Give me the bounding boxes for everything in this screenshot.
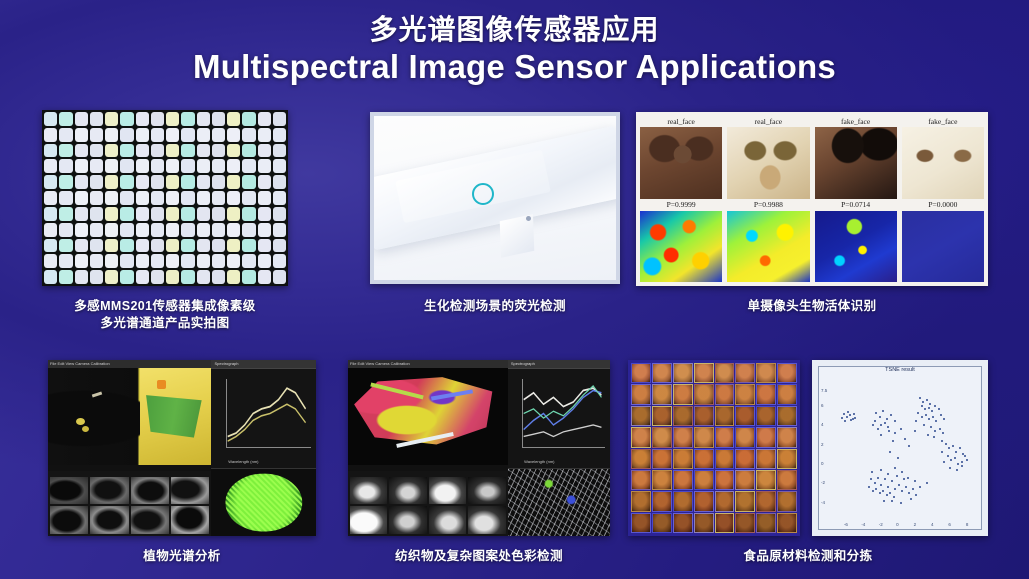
channel-thumbnail (90, 506, 128, 534)
filter-cell (181, 270, 194, 284)
channel-cell (756, 363, 776, 383)
scatter-point (934, 405, 936, 407)
face-result-column: real_face P=0.9999 (640, 116, 722, 282)
scatter-point (844, 420, 846, 422)
filter-cell (273, 159, 286, 173)
filter-cell (258, 112, 271, 126)
face-thumbnail (640, 127, 722, 199)
scatter-point (894, 488, 896, 490)
caption-line-1: 食品原材料检测和分拣 (628, 548, 988, 565)
face-heatmap (815, 211, 897, 283)
channel-cell (735, 384, 755, 404)
scatter-point (886, 494, 888, 496)
channel-thumbnail-grid (348, 471, 508, 536)
filter-cell (136, 239, 149, 253)
channel-cell (631, 449, 651, 469)
filter-cell (227, 239, 240, 253)
x-tick-label: 0 (896, 522, 899, 527)
caption-line-2: 多光谱通道产品实拍图 (42, 315, 288, 332)
filter-cell (75, 175, 88, 189)
scatter-point (898, 484, 900, 486)
channel-cell (756, 384, 776, 404)
scatter-point (871, 471, 873, 473)
panel-sensor-mosaic-image (42, 110, 288, 286)
filter-cell (242, 207, 255, 221)
channel-cell (673, 384, 693, 404)
filter-cell (59, 207, 72, 221)
face-probability: P=0.9988 (727, 199, 809, 211)
filter-cell (181, 254, 194, 268)
scatter-point (921, 416, 923, 418)
face-probability: P=0.0000 (902, 199, 984, 211)
filter-cell (151, 175, 164, 189)
filter-cell (166, 239, 179, 253)
scatter-point (887, 426, 889, 428)
scatter-point (925, 414, 927, 416)
x-tick-label: -4 (861, 522, 865, 527)
filter-cell (166, 128, 179, 142)
classification-result-view (211, 469, 316, 536)
channel-cell (631, 491, 651, 511)
channel-cell (735, 491, 755, 511)
channel-thumbnail (350, 506, 387, 534)
y-tick-label: -2 (821, 480, 825, 485)
channel-cell (673, 513, 693, 533)
filter-cell (212, 159, 225, 173)
scatter-point (894, 467, 896, 469)
filter-cell (44, 112, 57, 126)
filter-cell (258, 270, 271, 284)
scatter-point (900, 502, 902, 504)
filter-cell (151, 254, 164, 268)
face-probability: P=0.0714 (815, 199, 897, 211)
scatter-point (888, 430, 890, 432)
filter-cell (120, 270, 133, 284)
channel-cell (715, 470, 735, 490)
filter-cell (44, 207, 57, 221)
scatter-point (950, 459, 952, 461)
scatter-point (952, 445, 954, 447)
filter-cell (59, 175, 72, 189)
face-label: real_face (640, 116, 722, 127)
channel-cell (694, 363, 714, 383)
scatter-point (875, 412, 877, 414)
filter-cell (242, 175, 255, 189)
scatter-point (933, 436, 935, 438)
caption-line-1: 多感MMS201传感器集成像素级 (42, 298, 288, 315)
filter-cell (273, 223, 286, 237)
face-label: fake_face (815, 116, 897, 127)
y-tick-label: 7.5 (821, 388, 827, 393)
channel-cell (756, 427, 776, 447)
channel-cell (777, 491, 797, 511)
filter-cell (227, 207, 240, 221)
filter-cell (44, 239, 57, 253)
panel-plant-spectral-image: File Edit View Camera Calibration (48, 360, 316, 536)
channel-thumbnail (389, 477, 426, 505)
filter-cell (44, 144, 57, 158)
graph-panel-header: Spectrograph (211, 360, 316, 369)
scatter-point (901, 471, 903, 473)
filter-cell (75, 207, 88, 221)
x-tick-label: 8 (966, 522, 969, 527)
scatter-point (914, 480, 916, 482)
filter-cell (197, 144, 210, 158)
face-thumbnail (902, 127, 984, 199)
scatter-point (854, 417, 856, 419)
channel-cell (673, 449, 693, 469)
scatter-point (847, 411, 849, 413)
filter-cell (227, 223, 240, 237)
face-probability: P=0.9999 (640, 199, 722, 211)
channel-cell (652, 384, 672, 404)
filter-cell (105, 128, 118, 142)
software-left-pane: File Edit View Camera Calibration (48, 360, 211, 536)
caption-line-1: 纺织物及复杂图案处色彩检测 (348, 548, 610, 565)
filter-cell (44, 191, 57, 205)
filter-cell (258, 159, 271, 173)
channel-cell (777, 470, 797, 490)
filter-cell (273, 254, 286, 268)
filter-cell (120, 223, 133, 237)
scatter-point (961, 461, 963, 463)
filter-cell (166, 207, 179, 221)
channel-cell (715, 491, 735, 511)
scatter-point (897, 457, 899, 459)
filter-cell (120, 159, 133, 173)
channel-cell (652, 363, 672, 383)
filter-cell (166, 159, 179, 173)
channel-cell (777, 449, 797, 469)
scatter-point (889, 492, 891, 494)
filter-cell (197, 254, 210, 268)
filter-cell (242, 254, 255, 268)
filter-cell (105, 270, 118, 284)
channel-thumbnail (429, 506, 466, 534)
scatter-point (928, 418, 930, 420)
filter-cell (120, 207, 133, 221)
filter-cell (197, 159, 210, 173)
scatter-point (889, 451, 891, 453)
channel-cell (673, 363, 693, 383)
scatter-point (908, 492, 910, 494)
channel-cell (756, 491, 776, 511)
graph-panel-title: Spectrograph (511, 360, 535, 368)
filter-cell (242, 191, 255, 205)
scatter-point (926, 399, 928, 401)
filter-cell (75, 112, 88, 126)
filter-cell (258, 191, 271, 205)
filter-cell (151, 112, 164, 126)
scatter-point (939, 428, 941, 430)
scatter-point (919, 486, 921, 488)
filter-cell (59, 144, 72, 158)
panel-food-channels-image (628, 360, 800, 536)
scatter-point (877, 477, 879, 479)
filter-cell (258, 207, 271, 221)
y-tick-label: 0 (821, 461, 824, 466)
filter-cell (90, 191, 103, 205)
filter-cell (75, 128, 88, 142)
panel-fluorescence-image (370, 112, 620, 284)
channel-thumbnail (468, 477, 505, 505)
scatter-point (879, 416, 881, 418)
filter-mosaic-grid (42, 110, 288, 286)
channel-cell (715, 427, 735, 447)
classified-sample-blob (225, 473, 302, 532)
page-title-chinese: 多光谱图像传感器应用 (0, 14, 1029, 46)
y-tick-label: 6 (821, 403, 824, 408)
scatter-point (961, 465, 963, 467)
filter-cell (227, 191, 240, 205)
scatter-point (846, 416, 848, 418)
filter-cell (75, 223, 88, 237)
food-channel-grid (631, 363, 797, 533)
bag-orange-mark (157, 380, 166, 389)
scatter-point (853, 413, 855, 415)
scatter-point (942, 432, 944, 434)
filter-cell (90, 175, 103, 189)
scatter-point (886, 418, 888, 420)
channel-cell (756, 406, 776, 426)
caption-fluorescence: 生化检测场景的荧光检测 (370, 298, 620, 315)
face-result-grid: real_face P=0.9999 real_face P=0.9988 fa… (640, 116, 984, 282)
scatter-point (929, 403, 931, 405)
filter-cell (166, 223, 179, 237)
filter-cell (105, 254, 118, 268)
channel-cell (673, 406, 693, 426)
filter-cell (75, 159, 88, 173)
classification-result-view (508, 469, 610, 536)
channel-cell (673, 491, 693, 511)
caption-line-1: 单摄像头生物活体识别 (636, 298, 988, 315)
scatter-point (923, 424, 925, 426)
filter-cell (181, 175, 194, 189)
filter-cell (258, 239, 271, 253)
slide-canvas: 多光谱图像传感器应用 Multispectral Image Sensor Ap… (0, 0, 1029, 579)
filter-cell (181, 207, 194, 221)
scatter-point (850, 419, 852, 421)
scatter-point (903, 478, 905, 480)
filter-cell (273, 175, 286, 189)
graph-xlabel: Wavelength (nm) (228, 459, 258, 464)
filter-cell (273, 144, 286, 158)
filter-cell (90, 207, 103, 221)
filter-cell (136, 254, 149, 268)
filter-cell (166, 191, 179, 205)
caption-sensor-mosaic: 多感MMS201传感器集成像素级 多光谱通道产品实拍图 (42, 298, 288, 332)
channel-cell (735, 427, 755, 447)
scatter-point (874, 420, 876, 422)
bag-logo (146, 395, 202, 438)
x-tick-label: 6 (948, 522, 951, 527)
filter-cell (105, 144, 118, 158)
filter-cell (227, 112, 240, 126)
panel-textile-color-image: File Edit View Camera Calibration (348, 360, 610, 536)
filter-cell (59, 270, 72, 284)
filter-cell (75, 270, 88, 284)
scatter-point (875, 488, 877, 490)
page-title-english: Multispectral Image Sensor Applications (0, 48, 1029, 86)
channel-cell (715, 406, 735, 426)
filter-cell (242, 144, 255, 158)
filter-cell (242, 223, 255, 237)
scatter-point (894, 420, 896, 422)
filter-cell (105, 223, 118, 237)
filter-cell (44, 254, 57, 268)
caption-face-liveness: 单摄像头生物活体识别 (636, 298, 988, 315)
filter-cell (75, 144, 88, 158)
channel-thumbnail (171, 477, 209, 505)
scatter-point (921, 405, 923, 407)
filter-cell (75, 191, 88, 205)
plant-seed (76, 418, 85, 425)
x-tick-label: 2 (914, 522, 917, 527)
filter-cell (44, 270, 57, 284)
filter-cell (212, 191, 225, 205)
channel-cell (715, 513, 735, 533)
filter-cell (181, 112, 194, 126)
channel-thumbnail (389, 506, 426, 534)
filter-cell (59, 159, 72, 173)
scatter-point (941, 451, 943, 453)
scatter-point (941, 440, 943, 442)
scatter-point (870, 478, 872, 480)
filter-cell (197, 223, 210, 237)
filter-cell (242, 239, 255, 253)
face-heatmap (902, 211, 984, 283)
caption-food-sorting: 食品原材料检测和分拣 (628, 548, 988, 565)
channel-thumbnail (50, 477, 88, 505)
channel-cell (777, 363, 797, 383)
filter-cell (212, 207, 225, 221)
filter-cell (197, 239, 210, 253)
filter-cell (136, 191, 149, 205)
channel-cell (777, 513, 797, 533)
filter-cell (90, 254, 103, 268)
channel-thumbnail (171, 506, 209, 534)
toolbar-label: File Edit View Camera Calibration (50, 360, 110, 368)
filter-cell (136, 144, 149, 158)
scatter-point (904, 438, 906, 440)
face-thumbnail (815, 127, 897, 199)
scatter-point (934, 430, 936, 432)
filter-cell (197, 191, 210, 205)
filter-cell (75, 254, 88, 268)
filter-cell (105, 159, 118, 173)
face-result-column: fake_face P=0.0714 (815, 116, 897, 282)
filter-cell (90, 239, 103, 253)
scatter-point (841, 417, 843, 419)
live-camera-view (348, 368, 508, 465)
scatter-point (915, 420, 917, 422)
spectral-software-window: File Edit View Camera Calibration (48, 360, 316, 536)
channel-cell (631, 406, 651, 426)
filter-cell (181, 239, 194, 253)
filter-cell (59, 128, 72, 142)
channel-cell (735, 363, 755, 383)
filter-cell (90, 144, 103, 158)
filter-cell (227, 159, 240, 173)
face-thumbnail (727, 127, 809, 199)
filter-cell (258, 175, 271, 189)
scatter-point (912, 488, 914, 490)
scatter-point (907, 477, 909, 479)
filter-cell (90, 223, 103, 237)
chart-title: TSNE result (819, 366, 981, 375)
filter-cell (197, 112, 210, 126)
scatter-point (880, 484, 882, 486)
filter-cell (242, 159, 255, 173)
software-right-pane: Spectrograph Wavelength (nm) Classificat… (508, 360, 610, 536)
filter-cell (197, 270, 210, 284)
filter-cell (120, 175, 133, 189)
filter-cell (273, 270, 286, 284)
channel-cell (652, 513, 672, 533)
filter-cell (136, 175, 149, 189)
scatter-point (905, 486, 907, 488)
channel-cell (715, 449, 735, 469)
filter-cell (151, 223, 164, 237)
scatter-point (884, 422, 886, 424)
panel-tsne-scatter-image: TSNE result -6-4-202468-4-202467.5 (812, 360, 988, 536)
channel-cell (694, 384, 714, 404)
filter-cell (105, 239, 118, 253)
filter-cell (227, 270, 240, 284)
face-label: real_face (727, 116, 809, 127)
channel-thumbnail (350, 477, 387, 505)
scatter-point (872, 424, 874, 426)
channel-cell (694, 449, 714, 469)
scatter-point (949, 467, 951, 469)
filter-cell (90, 270, 103, 284)
scatter-point (908, 445, 910, 447)
filter-cell (273, 128, 286, 142)
filter-cell (120, 254, 133, 268)
filter-cell (120, 239, 133, 253)
y-tick-label: 4 (821, 422, 824, 427)
tsne-plot: TSNE result -6-4-202468-4-202467.5 (818, 366, 982, 530)
scatter-point (884, 478, 886, 480)
filter-cell (151, 191, 164, 205)
face-label: fake_face (902, 116, 984, 127)
filter-cell (227, 175, 240, 189)
channel-cell (673, 427, 693, 447)
channel-cell (694, 406, 714, 426)
channel-thumbnail (429, 477, 466, 505)
scatter-point (896, 475, 898, 477)
filter-cell (90, 159, 103, 173)
live-camera-view (48, 368, 211, 465)
scatter-point (874, 482, 876, 484)
filter-cell (242, 128, 255, 142)
channel-thumbnail (50, 506, 88, 534)
graph-panel-header: Spectrograph (508, 360, 610, 369)
face-result-column: real_face P=0.9988 (727, 116, 809, 282)
filter-cell (227, 144, 240, 158)
x-tick-label: -2 (879, 522, 883, 527)
scatter-point (945, 443, 947, 445)
filter-cell (242, 112, 255, 126)
scatter-point (914, 430, 916, 432)
scatter-point (955, 451, 957, 453)
scatter-point (894, 432, 896, 434)
filter-cell (59, 191, 72, 205)
filter-cell (59, 254, 72, 268)
filter-cell (166, 270, 179, 284)
filter-cell (59, 112, 72, 126)
channel-cell (756, 470, 776, 490)
